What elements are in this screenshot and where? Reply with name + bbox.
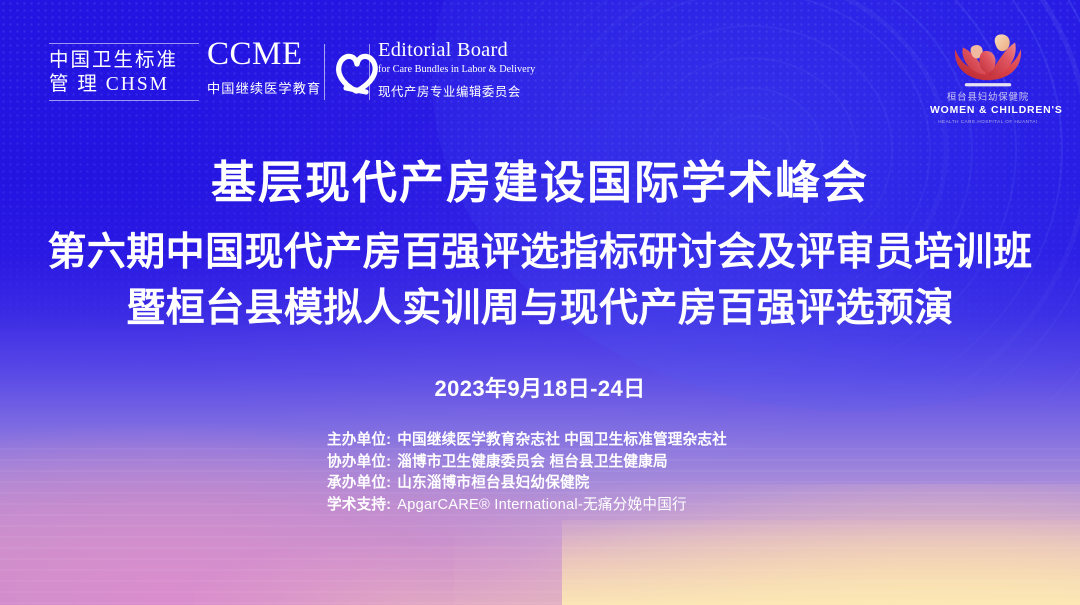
organizer-value: 山东淄博市桓台县妇幼保健院: [397, 473, 589, 495]
hospital-tagline: HEALTH CARE HOSPITAL OF HUANTAI: [930, 119, 1046, 124]
lotus-flower-icon: [930, 26, 1046, 88]
organizer-row: 承办单位: 山东淄博市桓台县妇幼保健院: [327, 473, 753, 495]
organizer-label: 学术支持:: [327, 495, 391, 517]
editorial-board-line2: for Care Bundles in Labor & Delivery: [378, 64, 523, 76]
chsm-line2: 管 理 CHSM: [49, 73, 199, 97]
organizer-row: 协办单位: 淄博市卫生健康委员会 桓台县卫生健康局: [327, 452, 753, 474]
organizer-label: 主办单位:: [327, 430, 391, 452]
logo-divider: [324, 44, 325, 100]
editorial-board-line1: Editorial Board: [378, 40, 523, 62]
ccme-logo: CCME 中国继续医学教育: [207, 38, 315, 106]
event-date: 2023年9月18日-24日: [0, 371, 1080, 403]
chsm-logo: 中国卫生标准 管 理 CHSM: [49, 35, 199, 109]
editorial-board-line3: 现代产房专业编辑委员会: [378, 82, 523, 100]
organizer-label: 承办单位:: [327, 473, 391, 495]
chsm-line1: 中国卫生标准: [49, 49, 199, 73]
chsm-rule-bottom: [49, 100, 199, 101]
subtitle-line-1: 第六期中国现代产房百强评选指标研讨会及评审员培训班: [0, 232, 1080, 275]
organizer-label: 协办单位:: [327, 452, 391, 474]
conference-poster: 中国卫生标准 管 理 CHSM CCME 中国继续医学教育 Ed: [0, 0, 1080, 605]
ccme-subtitle: 中国继续医学教育: [207, 78, 315, 97]
women-children-hospital-logo: 桓台县妇幼保健院 WOMEN & CHILDREN'S HEALTH CARE …: [930, 26, 1046, 122]
hospital-name-english: WOMEN & CHILDREN'S: [930, 105, 1046, 116]
organizer-row: 主办单位: 中国继续医学教育杂志社 中国卫生标准管理杂志社: [327, 430, 753, 452]
organizer-value: 中国继续医学教育杂志社 中国卫生标准管理杂志社: [397, 430, 727, 452]
logo-divider-2: [369, 44, 370, 100]
ccme-acronym: CCME: [207, 38, 315, 71]
logo-row: 中国卫生标准 管 理 CHSM CCME 中国继续医学教育 Ed: [0, 0, 1080, 130]
organizer-value: ApgarCARE® International-无痛分娩中国行: [397, 495, 687, 517]
subtitle-line-2: 暨桓台县模拟人实训周与现代产房百强评选预演: [0, 288, 1080, 331]
organizer-list: 主办单位: 中国继续医学教育杂志社 中国卫生标准管理杂志社 协办单位: 淄博市卫…: [0, 430, 1080, 516]
heart-icon: [333, 47, 381, 97]
organizer-value: 淄博市卫生健康委员会 桓台县卫生健康局: [397, 452, 668, 474]
hospital-name-chinese: 桓台县妇幼保健院: [930, 89, 1046, 103]
editorial-board-logo: Editorial Board for Care Bundles in Labo…: [378, 40, 523, 100]
page-title: 基层现代产房建设国际学术峰会: [0, 159, 1080, 208]
organizer-row: 学术支持: ApgarCARE® International-无痛分娩中国行: [327, 495, 753, 517]
